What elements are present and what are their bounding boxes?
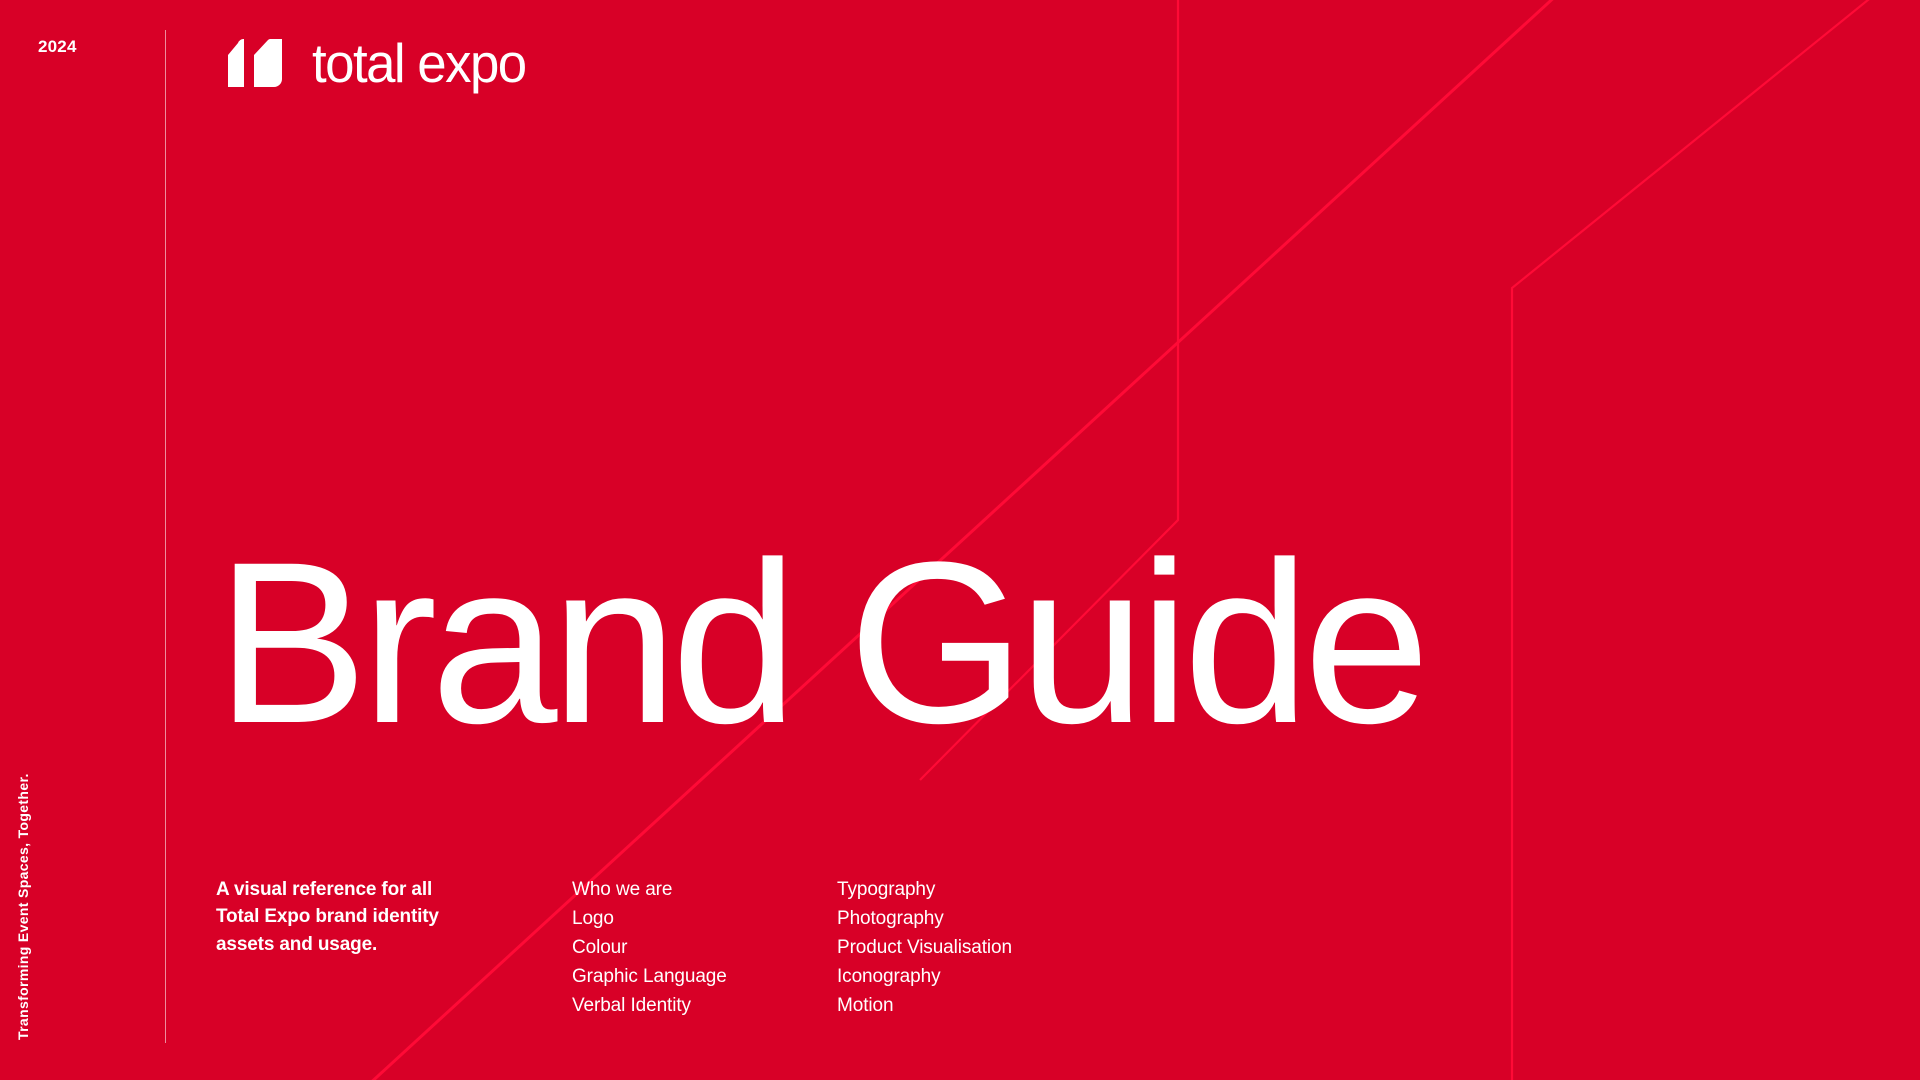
left-rail: 2024 Transforming Event Spaces, Together… (0, 0, 166, 1080)
contents-item[interactable]: Iconography (837, 962, 1117, 991)
contents-item[interactable]: Who we are (572, 875, 837, 904)
contents-item[interactable]: Typography (837, 875, 1117, 904)
mark-blade-left (228, 39, 244, 87)
contents-item[interactable]: Graphic Language (572, 962, 837, 991)
contents-item[interactable]: Product Visualisation (837, 933, 1117, 962)
intro-line-2: Total Expo brand identity (216, 903, 516, 931)
tagline: Transforming Event Spaces, Together. (16, 773, 30, 1040)
contents-item[interactable]: Logo (572, 904, 837, 933)
contents-item[interactable]: Photography (837, 904, 1117, 933)
contents-column-2: Typography Photography Product Visualisa… (837, 875, 1117, 1020)
logo-wordmark: total expo (312, 36, 526, 91)
brand-guide-cover: 2024 Transforming Event Spaces, Together… (0, 0, 1920, 1080)
logo-lockup[interactable]: total expo (216, 35, 535, 91)
mark-blade-right (254, 39, 282, 87)
bent-line-right (1512, 0, 1905, 1080)
bottom-row: A visual reference for all Total Expo br… (216, 875, 1117, 1020)
rail-divider (165, 30, 166, 1043)
year-label: 2024 (38, 38, 77, 55)
contents-column-1: Who we are Logo Colour Graphic Language … (572, 875, 837, 1020)
total-expo-mark-icon (216, 39, 288, 87)
intro-line-3: assets and usage. (216, 931, 516, 959)
contents-item[interactable]: Verbal Identity (572, 991, 837, 1020)
contents-item[interactable]: Colour (572, 933, 837, 962)
contents-item[interactable]: Motion (837, 991, 1117, 1020)
intro-line-1: A visual reference for all (216, 876, 516, 904)
intro-description: A visual reference for all Total Expo br… (216, 875, 516, 959)
page-title: Brand Guide (216, 546, 1424, 739)
